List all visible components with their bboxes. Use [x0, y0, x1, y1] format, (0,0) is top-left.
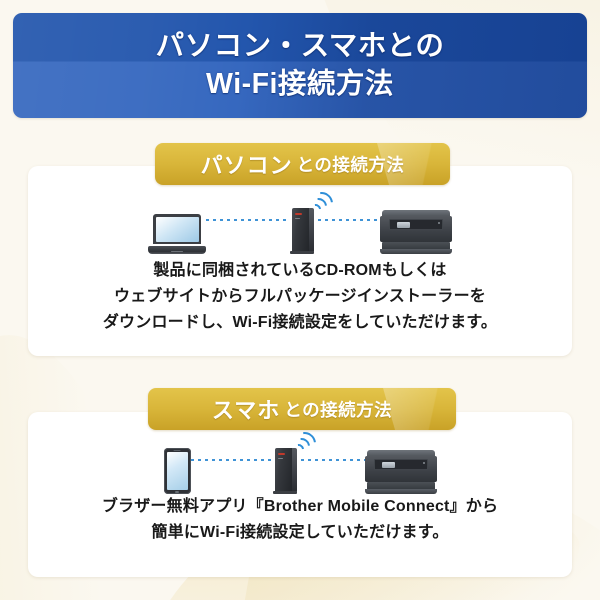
section-text-pc-line-3: ダウンロードし、Wi-Fi接続設定をしていただけます。	[28, 310, 572, 336]
section-text-pc-line-2: ウェブサイトからフルパッケージインストーラーを	[28, 284, 572, 310]
dotted-connector-left-sp	[191, 459, 273, 461]
smartphone-icon	[164, 448, 191, 494]
diagram-sp	[28, 436, 572, 494]
main-title-text: パソコン・スマホとの Wi-Fi接続方法	[156, 28, 445, 103]
main-title-banner: パソコン・スマホとの Wi-Fi接続方法	[13, 13, 587, 118]
section-text-sp-line-1: ブラザー無料アプリ『Brother Mobile Connect』から	[28, 494, 572, 520]
wifi-router-icon	[273, 444, 297, 494]
dotted-connector-left-pc	[206, 219, 290, 221]
printer-icon	[365, 450, 437, 494]
main-title-line-2: Wi-Fi接続方法	[156, 66, 445, 104]
section-text-sp-line-2: 簡単にWi-Fi接続設定していただけます。	[28, 520, 572, 546]
dotted-connector-right-sp	[301, 459, 365, 461]
section-text-pc-line-1: 製品に同梱されているCD-ROMもしくは	[28, 258, 572, 284]
section-badge-sp: スマホとの接続方法	[148, 388, 456, 430]
main-title-line-1: パソコン・スマホとの	[156, 28, 445, 66]
section-text-sp: ブラザー無料アプリ『Brother Mobile Connect』から 簡単にW…	[28, 494, 572, 546]
section-badge-sp-strong: スマホ	[212, 393, 280, 425]
laptop-icon	[148, 214, 206, 254]
section-text-pc: 製品に同梱されているCD-ROMもしくは ウェブサイトからフルパッケージインスト…	[28, 258, 572, 336]
wifi-signal-icon	[308, 194, 334, 216]
printer-icon	[380, 210, 452, 254]
wifi-router-icon	[290, 204, 314, 254]
section-badge-pc-strong: パソコン	[201, 148, 293, 180]
section-badge-pc-rest: との接続方法	[297, 152, 405, 177]
section-card-pc: 製品に同梱されているCD-ROMもしくは ウェブサイトからフルパッケージインスト…	[28, 166, 572, 356]
section-badge-sp-rest: との接続方法	[284, 397, 392, 422]
section-card-sp: ブラザー無料アプリ『Brother Mobile Connect』から 簡単にW…	[28, 412, 572, 577]
diagram-pc	[28, 196, 572, 254]
section-badge-pc: パソコンとの接続方法	[155, 143, 450, 185]
page-root: パソコン・スマホとの Wi-Fi接続方法 パソコンとの接続方法	[0, 0, 600, 600]
wifi-signal-icon	[291, 434, 317, 456]
dotted-connector-right-pc	[318, 219, 380, 221]
